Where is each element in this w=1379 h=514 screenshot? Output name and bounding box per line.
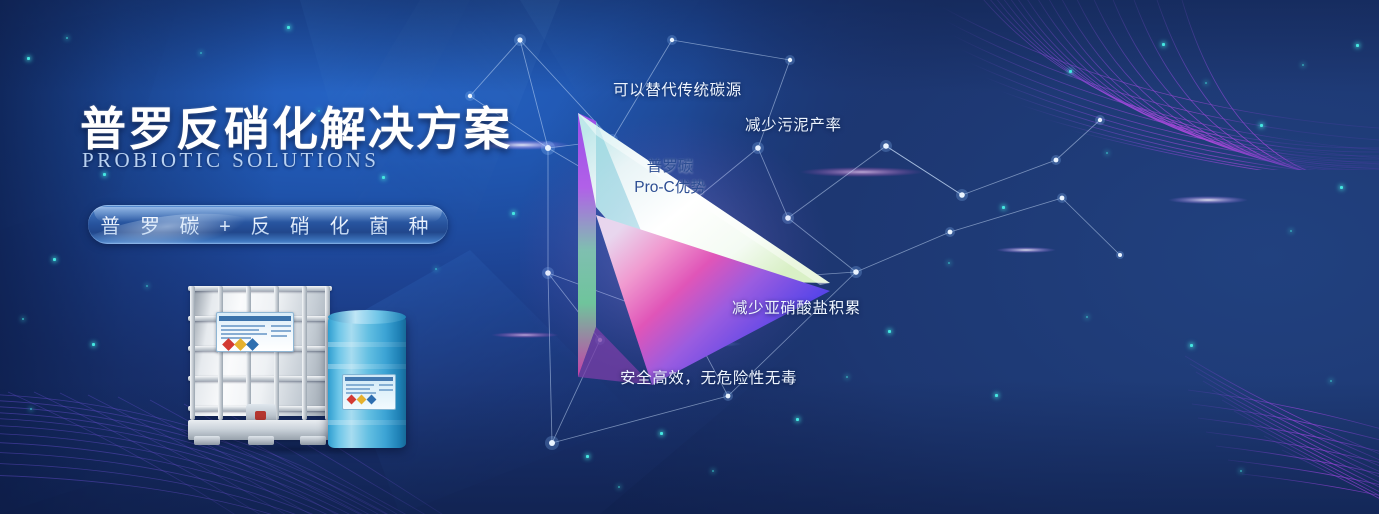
pro-c-chevron-mark: [520, 95, 850, 395]
drum-product-label: [342, 374, 396, 410]
tote-product-label: [216, 312, 294, 352]
blue-chemical-drum: [328, 316, 406, 448]
benefit-label-3: 减少亚硝酸盐积累: [732, 296, 861, 318]
tote-pallet-base: [188, 420, 332, 440]
benefit-label-1: 可以替代传统碳源: [613, 78, 742, 100]
product-photo-group: [178, 272, 408, 462]
benefit-label-2: 减少污泥产率: [745, 113, 842, 135]
mark-core-line-1: 普罗碳: [647, 158, 694, 175]
product-formula-pill[interactable]: 普 罗 碳 + 反 硝 化 菌 种: [88, 205, 448, 244]
benefit-label-4: 安全高效，无危险性无毒: [620, 366, 797, 388]
drum-top-rim: [328, 310, 406, 324]
page-subtitle: PROBIOTIC SOLUTIONS: [82, 148, 379, 173]
mark-core-line-2: Pro-C优势: [634, 179, 705, 196]
product-formula-label: 普 罗 碳 + 反 硝 化 菌 种: [88, 205, 448, 244]
mark-core-label: 普罗碳 Pro-C优势: [608, 157, 732, 199]
promotional-banner: 普罗碳 Pro-C优势 可以替代传统碳源 减少污泥产率 减少亚硝酸盐积累 安全高…: [0, 0, 1379, 514]
tote-cage: [186, 282, 334, 422]
ibc-tote-container: [186, 282, 334, 440]
